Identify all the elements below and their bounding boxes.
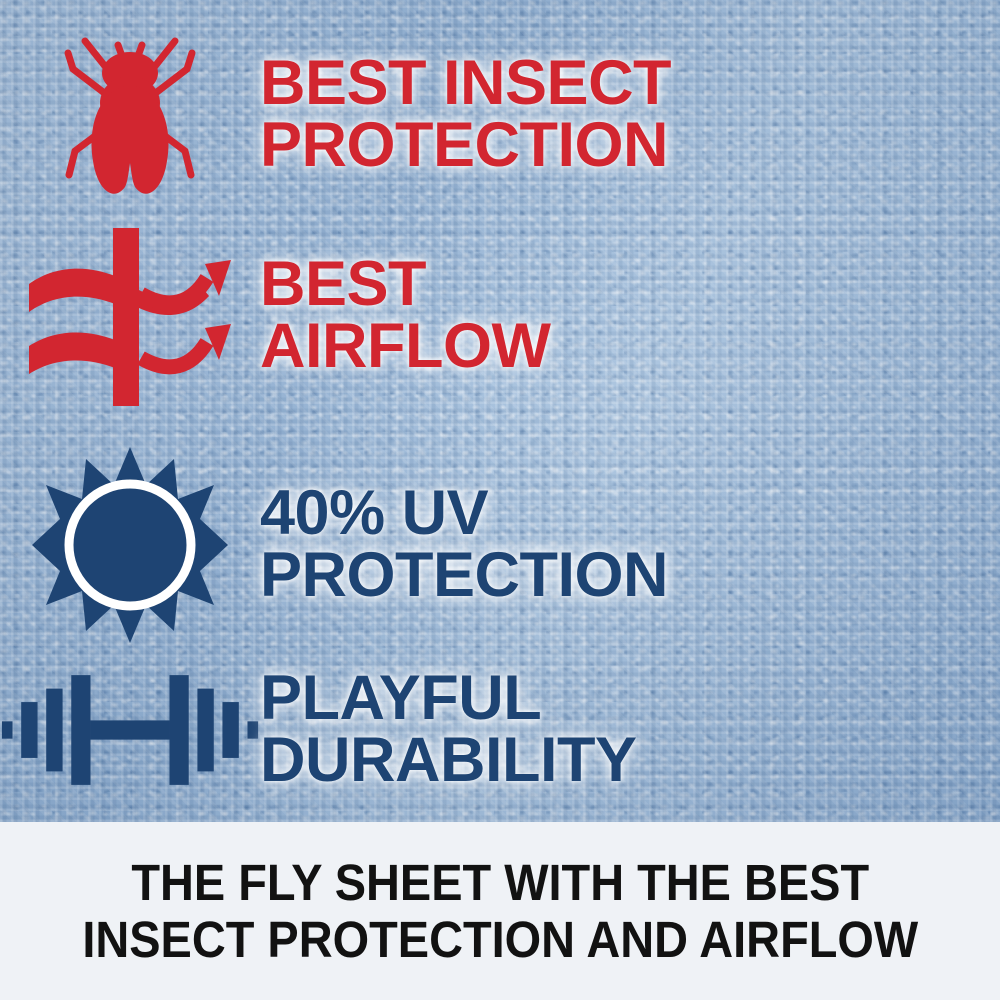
feature-label-uv-protection: 40% UV PROTECTION <box>260 483 1000 606</box>
infographic-canvas: BEST INSECT PROTECTION BEST AIRFL <box>0 0 1000 1000</box>
caption-band: THE FLY SHEET WITH THE BEST INSECT PROTE… <box>0 822 1000 1000</box>
feature-icon-cell <box>0 224 260 409</box>
feature-text-cell: 40% UV PROTECTION <box>260 483 1000 606</box>
sun-uv-icon <box>30 445 230 645</box>
feature-label-airflow: BEST AIRFLOW <box>260 254 1000 377</box>
feature-row-insect-protection: BEST INSECT PROTECTION <box>0 20 1000 210</box>
feature-icon-cell <box>0 445 260 645</box>
dumbbell-icon <box>0 665 260 795</box>
feature-row-uv-protection: 40% UV PROTECTION <box>0 440 1000 650</box>
feature-label-insect-protection: BEST INSECT PROTECTION <box>260 53 1000 176</box>
feature-icon-cell <box>0 665 260 795</box>
feature-label-durability: PLAYFUL DURABILITY <box>260 668 1000 791</box>
feature-icon-cell <box>0 23 260 208</box>
feature-text-cell: BEST AIRFLOW <box>260 254 1000 377</box>
airflow-arrows-icon <box>23 224 238 409</box>
fly-icon <box>55 23 205 208</box>
feature-row-durability: PLAYFUL DURABILITY <box>0 655 1000 805</box>
feature-row-airflow: BEST AIRFLOW <box>0 222 1000 410</box>
feature-text-cell: BEST INSECT PROTECTION <box>260 53 1000 176</box>
caption-headline: THE FLY SHEET WITH THE BEST INSECT PROTE… <box>82 854 918 968</box>
feature-text-cell: PLAYFUL DURABILITY <box>260 668 1000 791</box>
